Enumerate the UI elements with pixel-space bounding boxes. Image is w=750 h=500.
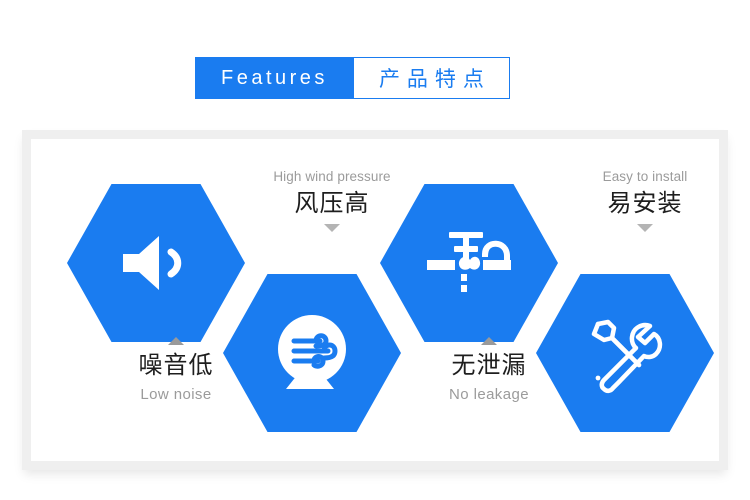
banner-english-title: Features <box>195 57 354 99</box>
features-card-inner: 噪音低 Low noise High wind pressure 风压高 无泄漏… <box>31 139 719 461</box>
feature-title-cn-low-noise: 噪音低 <box>91 352 261 380</box>
features-card: 噪音低 Low noise High wind pressure 风压高 无泄漏… <box>22 130 728 470</box>
triangle-up-icon <box>168 337 184 345</box>
speaker-icon <box>117 228 195 298</box>
feature-label-no-leakage: 无泄漏 No leakage <box>404 337 574 403</box>
tools-icon <box>582 310 668 396</box>
triangle-up-icon <box>481 337 497 345</box>
feature-title-en-high-wind-pressure: High wind pressure <box>247 169 417 185</box>
feature-title-cn-no-leakage: 无泄漏 <box>404 352 574 380</box>
features-header-banner: Features 产品特点 <box>195 57 510 99</box>
banner-chinese-title: 产品特点 <box>354 57 510 99</box>
feature-label-low-noise: 噪音低 Low noise <box>91 337 261 403</box>
valve-icon <box>423 222 515 304</box>
feature-label-easy-to-install: Easy to install 易安装 <box>560 169 719 232</box>
wind-icon <box>264 305 360 401</box>
feature-title-cn-easy-to-install: 易安装 <box>560 190 719 218</box>
feature-title-en-easy-to-install: Easy to install <box>560 169 719 185</box>
feature-label-high-wind-pressure: High wind pressure 风压高 <box>247 169 417 232</box>
feature-hexagon-low-noise[interactable] <box>67 184 245 342</box>
triangle-down-icon <box>324 224 340 232</box>
feature-title-cn-high-wind-pressure: 风压高 <box>247 190 417 218</box>
feature-title-en-low-noise: Low noise <box>91 386 261 403</box>
triangle-down-icon <box>637 224 653 232</box>
feature-title-en-no-leakage: No leakage <box>404 386 574 403</box>
